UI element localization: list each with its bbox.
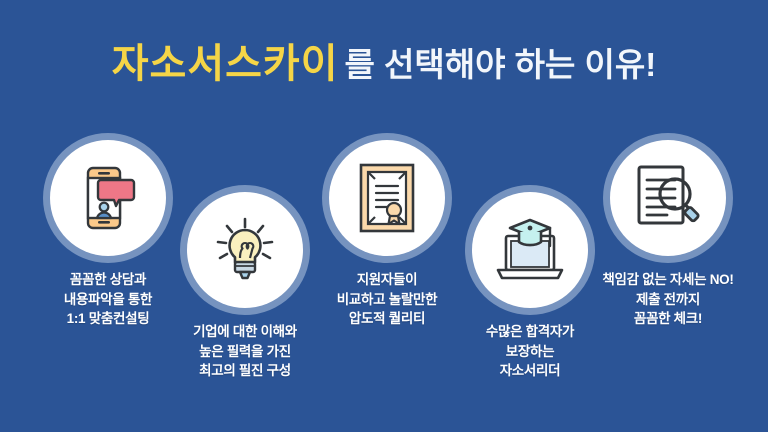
feature-caption: 책임감 없는 자세는 NO! 제출 전까지 꼼꼼한 체크! <box>578 270 758 329</box>
feature-item-check: 책임감 없는 자세는 NO! 제출 전까지 꼼꼼한 체크! <box>578 140 758 329</box>
feature-caption: 기업에 대한 이해와 높은 필력을 가진 최고의 필진 구성 <box>155 322 335 381</box>
slide-canvas: 자소서스카이를 선택해야 하는 이유! 꼼꼼한 상담과 내용파악을 통한 1:1… <box>0 0 768 432</box>
caption-line: 자소서리더 <box>440 361 620 381</box>
feature-icon-circle <box>50 140 166 256</box>
title-brand-highlight: 자소서스카이 <box>112 42 339 86</box>
certificate-award-icon <box>358 162 416 234</box>
smartphone-chat-consultation-icon <box>77 165 139 231</box>
feature-caption: 수많은 합격자가 보장하는 자소서리더 <box>440 322 620 381</box>
title-suffix-text: 를 선택해야 하는 이유! <box>345 46 657 83</box>
feature-icon-circle <box>187 192 303 308</box>
caption-line: 보장하는 <box>440 342 620 362</box>
caption-line: 제출 전까지 <box>578 290 758 310</box>
feature-icon-circle <box>472 192 588 308</box>
feature-icon-circle <box>329 140 445 256</box>
caption-line: 책임감 없는 자세는 NO! <box>578 270 758 290</box>
laptop-graduation-cap-icon <box>493 216 567 284</box>
document-magnifier-check-icon <box>633 163 703 233</box>
caption-line: 최고의 필진 구성 <box>155 361 335 381</box>
lightbulb-idea-icon <box>211 216 279 284</box>
caption-line: 높은 필력을 가진 <box>155 342 335 362</box>
feature-icon-circle <box>610 140 726 256</box>
page-title: 자소서스카이를 선택해야 하는 이유! <box>0 44 768 84</box>
caption-line: 꼼꼼한 체크! <box>578 309 758 329</box>
